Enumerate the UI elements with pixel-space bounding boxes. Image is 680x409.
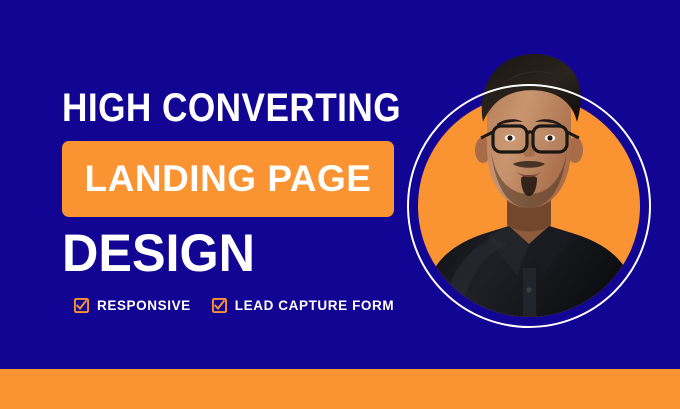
feature-item-responsive: RESPONSIVE [74,298,191,313]
landing-page-design-banner: HIGH CONVERTING LANDING PAGE DESIGN RESP… [0,0,680,409]
headline-line-2: LANDING PAGE [62,141,394,217]
headline-line-1: HIGH CONVERTING [62,86,401,130]
portrait-medallion [407,84,651,328]
feature-list: RESPONSIVE LEAD CAPTURE FORM [74,298,394,313]
headline-group: HIGH CONVERTING LANDING PAGE DESIGN RESP… [0,0,420,369]
checkbox-checked-icon [74,298,89,313]
medallion-white-ring [407,84,651,328]
headline-highlight-band: LANDING PAGE [62,141,394,217]
checkbox-checked-icon [212,298,227,313]
headline-line-3: DESIGN [62,225,255,283]
feature-label: RESPONSIVE [97,298,191,313]
bottom-accent-bar [0,369,680,409]
